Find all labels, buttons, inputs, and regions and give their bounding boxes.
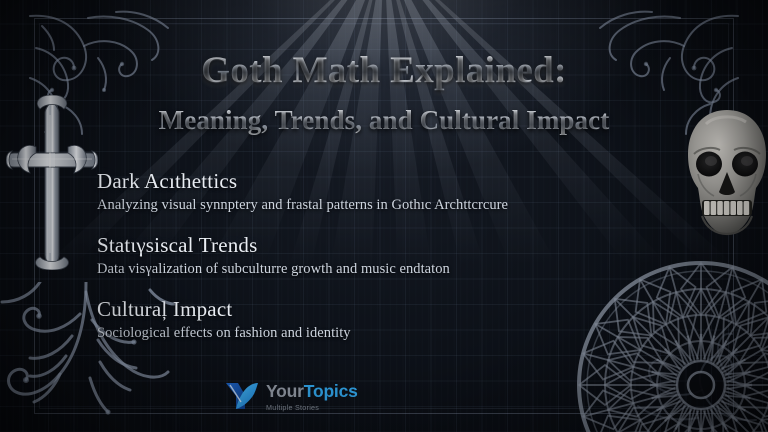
presentation-slide: Goth Math Explained: Meaning, Trends, an…: [0, 0, 768, 432]
section-statistical-trends: Statιγsiscal Trends Data visγalization o…: [97, 232, 697, 280]
slide-title: Goth Math Explained:: [0, 52, 768, 91]
section-cultural-impact: Culturaļ Impact Sociological effects on …: [97, 296, 697, 344]
section-heading: Dark Acıthettics: [97, 168, 697, 194]
section-body: Sociological effects on fashion and iden…: [97, 324, 697, 344]
logo-text-block: YourTopics Multiple Stories: [266, 381, 358, 411]
section-heading: Culturaļ Impact: [97, 296, 697, 322]
bullet-sections: Dark Acıthettics Analyzing visual synnpt…: [97, 168, 697, 359]
logo-word-topics: Topics: [304, 381, 358, 401]
yourtopics-logo-mark-icon: [225, 380, 259, 412]
yourtopics-logo[interactable]: YourTopics Multiple Stories: [225, 380, 358, 412]
slide-subtitle: Meaning, Trends, and Cultural Impact: [0, 106, 768, 136]
section-body: Data visγalization of subculturre growth…: [97, 260, 697, 280]
section-dark-aesthetics: Dark Acıthettics Analyzing visual synnpt…: [97, 168, 697, 216]
section-body: Analyzing visual synnptery and frastal p…: [97, 196, 697, 216]
logo-tagline: Multiple Stories: [266, 404, 358, 411]
logo-word-your: Your: [266, 381, 304, 401]
logo-wordmark: YourTopics: [266, 383, 358, 401]
section-heading: Statιγsiscal Trends: [97, 232, 697, 258]
slide-content: Goth Math Explained: Meaning, Trends, an…: [0, 0, 768, 432]
